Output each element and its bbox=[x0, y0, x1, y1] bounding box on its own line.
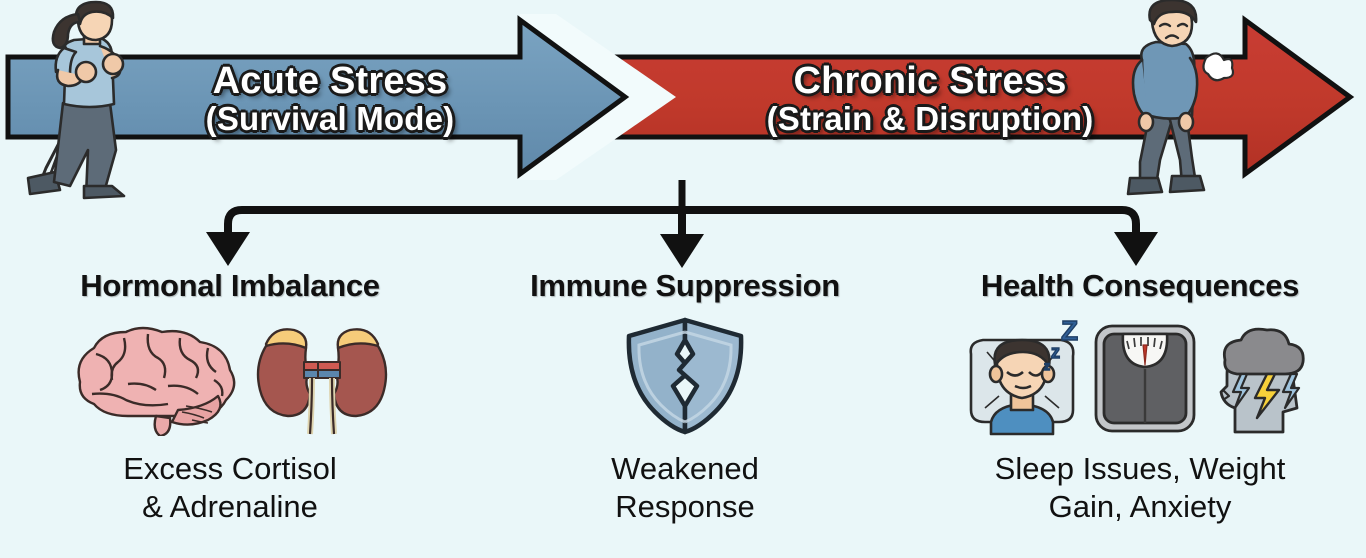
outcome-title-health: Health Consequences bbox=[925, 268, 1355, 304]
outcome-title-immune: Immune Suppression bbox=[470, 268, 900, 304]
arrowhead-left bbox=[206, 232, 250, 266]
caption-line: Weakened bbox=[470, 450, 900, 488]
kidneys-adrenal-glands-icon bbox=[252, 318, 392, 436]
caption-line: & Adrenaline bbox=[20, 488, 440, 526]
zzz-medium: z bbox=[1051, 342, 1060, 362]
bathroom-scale-icon bbox=[1091, 321, 1199, 436]
outcome-caption-health: Sleep Issues, Weight Gain, Anxiety bbox=[925, 450, 1355, 526]
arrowhead-center bbox=[660, 234, 704, 268]
branch-connector-bracket bbox=[0, 180, 1366, 275]
outcome-icons-health: Z z z bbox=[925, 318, 1355, 436]
zzz-small: z bbox=[1044, 359, 1050, 373]
outcome-icons-immune bbox=[470, 318, 900, 436]
infographic-canvas: Acute Stress (Survival Mode) Chronic Str… bbox=[0, 0, 1366, 558]
outcome-column-immune: Immune Suppression We bbox=[470, 268, 900, 526]
caption-line: Gain, Anxiety bbox=[925, 488, 1355, 526]
zzz-large: Z bbox=[1061, 318, 1078, 346]
sleeping-person-zzz-icon: Z z z bbox=[965, 318, 1085, 436]
arrowhead-right bbox=[1114, 232, 1158, 266]
stress-progression-arrows: Acute Stress (Survival Mode) Chronic Str… bbox=[0, 0, 1366, 200]
outcome-caption-hormonal: Excess Cortisol & Adrenaline bbox=[20, 450, 440, 526]
outcome-column-hormonal: Hormonal Imbalance bbox=[20, 268, 440, 526]
caption-line: Sleep Issues, Weight bbox=[925, 450, 1355, 488]
caption-line: Excess Cortisol bbox=[20, 450, 440, 488]
chronic-stress-arrow bbox=[612, 20, 1350, 174]
outcome-column-health: Health Consequences bbox=[925, 268, 1355, 526]
outcome-title-hormonal: Hormonal Imbalance bbox=[20, 268, 440, 304]
arrow-shapes bbox=[0, 0, 1366, 200]
cracked-shield-icon bbox=[621, 314, 749, 436]
caption-line: Response bbox=[470, 488, 900, 526]
outcome-icons-hormonal bbox=[20, 318, 440, 436]
head-storm-cloud-anxiety-icon bbox=[1205, 320, 1315, 436]
outcome-caption-immune: Weakened Response bbox=[470, 450, 900, 526]
brain-icon bbox=[68, 324, 246, 436]
